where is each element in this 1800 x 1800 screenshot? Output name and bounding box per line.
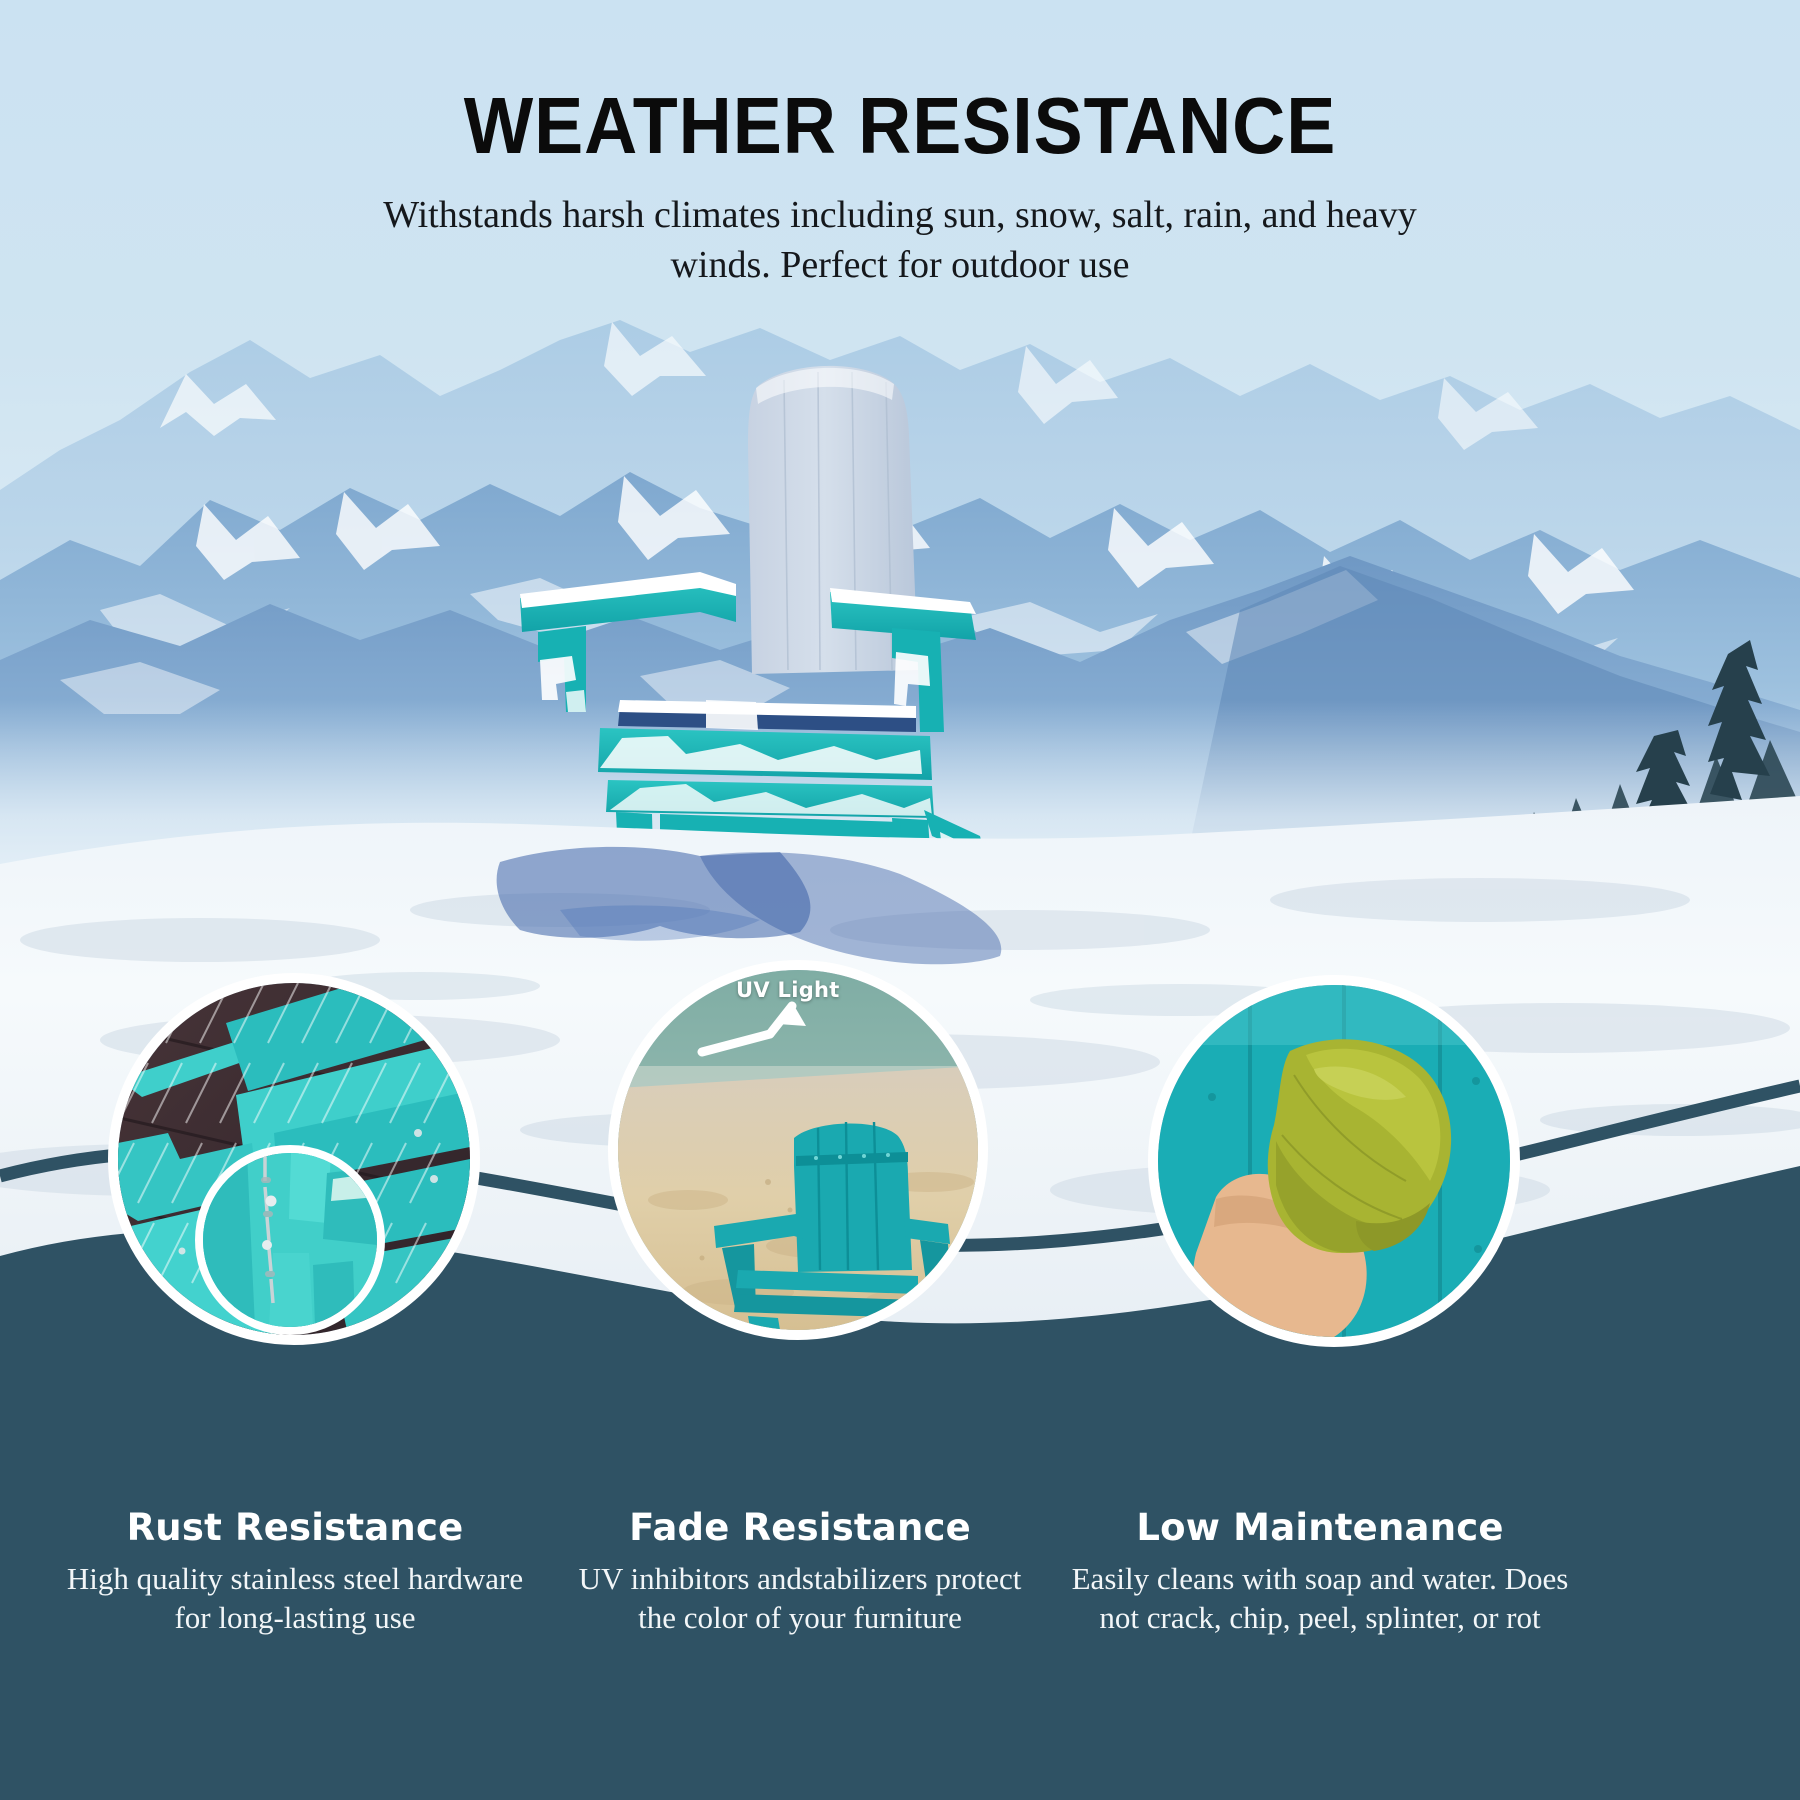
feature-image-low-maintenance — [1148, 975, 1520, 1347]
feature-block-fade-resistance: Fade Resistance UV inhibitors andstabili… — [560, 1508, 1040, 1638]
page-title: WEATHER RESISTANCE — [72, 86, 1728, 166]
feature-image-rust-hardware-closeup — [195, 1145, 385, 1335]
feature-body-low-maintenance: Easily cleans with soap and water. Does … — [1070, 1559, 1570, 1638]
infographic-root: UV Light — [0, 0, 1800, 1800]
feature-body-rust-resistance: High quality stainless steel hardware fo… — [60, 1559, 530, 1638]
feature-block-rust-resistance: Rust Resistance High quality stainless s… — [60, 1508, 530, 1638]
feature-block-low-maintenance: Low Maintenance Easily cleans with soap … — [1070, 1508, 1570, 1638]
feature-image-fade-resistance — [608, 960, 988, 1340]
feature-title-rust-resistance: Rust Resistance — [60, 1508, 530, 1549]
feature-title-low-maintenance: Low Maintenance — [1070, 1508, 1570, 1549]
page-subtitle: Withstands harsh climates including sun,… — [370, 190, 1430, 290]
feature-body-fade-resistance: UV inhibitors andstabilizers protect the… — [560, 1559, 1040, 1638]
feature-title-fade-resistance: Fade Resistance — [560, 1508, 1040, 1549]
